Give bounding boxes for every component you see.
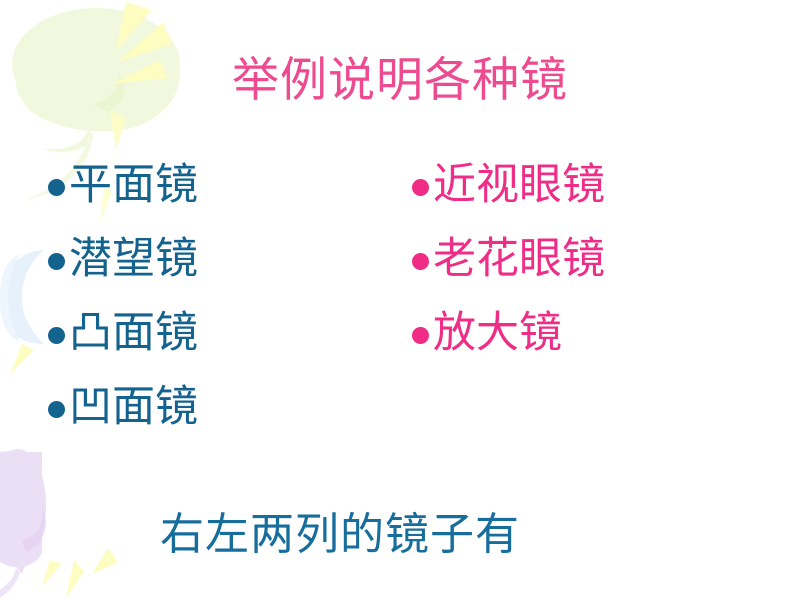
bullet-dot-icon <box>48 253 65 270</box>
list-item-label: 老花眼镜 <box>433 233 605 285</box>
left-bullet-column: 平面镜 潜望镜 凸面镜 凹面镜 <box>48 148 198 444</box>
bullet-dot-icon <box>48 401 65 418</box>
list-item-label: 潜望镜 <box>69 233 198 285</box>
bullet-dot-icon <box>412 253 429 270</box>
bullet-dot-icon <box>48 327 65 344</box>
list-item: 老花眼镜 <box>412 222 605 296</box>
bullet-dot-icon <box>48 179 65 196</box>
list-item-label: 凸面镜 <box>69 307 198 359</box>
page-title: 举例说明各种镜 <box>0 52 800 110</box>
yellow-rays-bottom-icon <box>42 548 118 598</box>
list-item: 放大镜 <box>412 296 605 370</box>
right-bullet-column: 近视眼镜 老花眼镜 放大镜 <box>412 148 605 370</box>
slide-canvas: 举例说明各种镜 平面镜 潜望镜 凸面镜 凹面镜 近视眼镜 老花眼镜 <box>0 0 800 600</box>
list-item: 平面镜 <box>48 148 198 222</box>
bullet-dot-icon <box>412 179 429 196</box>
list-item: 凹面镜 <box>48 370 198 444</box>
list-item: 近视眼镜 <box>412 148 605 222</box>
list-item-label: 平面镜 <box>69 159 198 211</box>
list-item-label: 凹面镜 <box>69 381 198 433</box>
question-text: 右左两列的镜子有 什么不同的地方？ <box>160 448 700 600</box>
list-item-label: 近视眼镜 <box>433 159 605 211</box>
list-item-label: 放大镜 <box>433 307 562 359</box>
question-line-1: 右左两列的镜子有 <box>160 506 700 564</box>
purple-balloon-icon <box>0 449 46 598</box>
list-item: 潜望镜 <box>48 222 198 296</box>
list-item: 凸面镜 <box>48 296 198 370</box>
blue-balloon-icon <box>0 250 44 344</box>
yellow-ray-left-icon <box>10 344 34 374</box>
bullet-dot-icon <box>412 327 429 344</box>
